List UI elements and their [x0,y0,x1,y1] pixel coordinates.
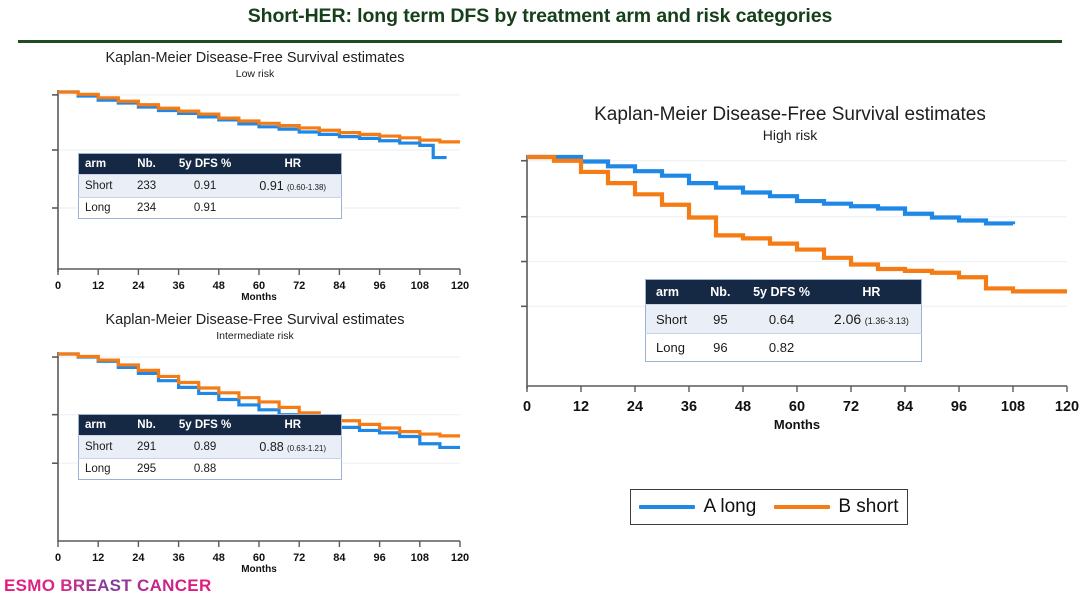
cell-dfs: 0.91 [166,175,245,198]
cell-dfs: 0.88 [166,459,245,480]
x-tick-label: 72 [843,399,859,415]
legend-label: A long [703,496,756,518]
cell-nb: 95 [699,305,741,334]
col-nb: Nb. [127,154,165,175]
x-tick-label: 0 [523,399,531,415]
x-tick-label: 96 [951,399,967,415]
table-row: Long 96 0.82 [646,334,922,362]
col-nb: Nb. [699,280,741,305]
x-tick-label: 72 [293,552,305,564]
x-tick-label: 36 [172,552,184,564]
chart-high-risk-xaxis: 01224364860728496108120Months [505,393,1075,425]
table-row: Long 234 0.91 [79,198,342,219]
col-arm: arm [646,280,700,305]
cell-hr: 0.88 (0.63-1.21) [245,436,342,459]
x-tick-label: 96 [373,552,385,564]
chart-intermediate-risk-xaxis: 01224364860728496108120Months [40,548,470,570]
x-tick-label: 108 [411,552,429,564]
table-row: Short 291 0.89 0.88 (0.63-1.21) [79,436,342,459]
cell-hr [822,334,922,362]
table-header-row: arm Nb. 5y DFS % HR [79,415,342,436]
chart-intermediate-risk-title: Kaplan-Meier Disease-Free Survival estim… [40,312,470,329]
cell-nb: 233 [127,175,165,198]
table-header-row: arm Nb. 5y DFS % HR [79,154,342,175]
hr-ci: (1.36-3.13) [865,316,909,326]
x-axis-title: Months [774,417,820,432]
table-intermediate-risk: arm Nb. 5y DFS % HR Short 291 0.89 0.88 … [78,414,342,480]
col-arm: arm [79,415,128,436]
x-tick-label: 120 [451,280,469,292]
legend-label: B short [838,496,898,518]
hr-ci: (0.63-1.21) [287,444,326,453]
col-nb: Nb. [127,415,165,436]
cell-hr [245,198,342,219]
cell-hr: 2.06 (1.36-3.13) [822,305,922,334]
table-row: Long 295 0.88 [79,459,342,480]
x-tick-label: 96 [373,280,385,292]
chart-legend: A long B short [630,489,908,525]
table-high-risk: arm Nb. 5y DFS % HR Short 95 0.64 2.06 (… [645,279,922,362]
x-tick-label: 0 [55,280,61,292]
hr-ci: (0.60-1.38) [287,183,326,192]
col-dfs: 5y DFS % [166,415,245,436]
x-tick-label: 0 [55,552,61,564]
hr-value: 0.88 [259,440,283,454]
col-arm: arm [79,154,128,175]
x-tick-label: 24 [627,399,643,415]
cell-dfs: 0.91 [166,198,245,219]
cell-arm: Short [79,175,128,198]
legend-item-b-short: B short [774,496,898,518]
cell-dfs: 0.64 [741,305,821,334]
chart-intermediate-risk-subtitle: Intermediate risk [40,330,470,342]
chart-high-risk-title: Kaplan-Meier Disease-Free Survival estim… [505,104,1075,126]
x-tick-label: 60 [789,399,805,415]
x-axis-title: Months [241,564,277,575]
col-hr: HR [822,280,922,305]
x-tick-label: 48 [213,552,225,564]
x-tick-label: 48 [213,280,225,292]
hr-value: 2.06 [834,311,861,327]
chart-high-risk: Kaplan-Meier Disease-Free Survival estim… [505,104,1075,425]
x-tick-label: 12 [573,399,589,415]
x-tick-label: 108 [1001,399,1025,415]
x-tick-label: 108 [411,280,429,292]
line-swatch-icon [774,505,830,509]
cell-arm: Short [646,305,700,334]
cell-arm: Long [79,198,128,219]
x-tick-label: 84 [897,399,913,415]
page-title: Short-HER: long term DFS by treatment ar… [0,5,1080,28]
line-swatch-icon [639,505,695,509]
table-header-row: arm Nb. 5y DFS % HR [646,280,922,305]
x-tick-label: 12 [92,280,104,292]
table-row: Short 233 0.91 0.91 (0.60-1.38) [79,175,342,198]
cell-hr [245,459,342,480]
col-hr: HR [245,154,342,175]
cell-nb: 291 [127,436,165,459]
x-tick-label: 84 [333,552,345,564]
legend-item-a-long: A long [639,496,756,518]
x-tick-label: 36 [681,399,697,415]
esmo-logo: ESMO BREAST CANCER [4,576,212,596]
x-tick-label: 120 [451,552,469,564]
x-tick-label: 72 [293,280,305,292]
table-row: Short 95 0.64 2.06 (1.36-3.13) [646,305,922,334]
chart-high-risk-subtitle: High risk [505,127,1075,143]
table-low-risk: arm Nb. 5y DFS % HR Short 233 0.91 0.91 … [78,153,342,219]
cell-dfs: 0.89 [166,436,245,459]
x-tick-label: 120 [1055,399,1079,415]
col-hr: HR [245,415,342,436]
x-tick-label: 24 [132,552,144,564]
cell-arm: Long [646,334,700,362]
cell-arm: Long [79,459,128,480]
x-tick-label: 60 [253,552,265,564]
chart-low-risk-xaxis: 01224364860728496108120Months [40,276,470,298]
x-axis-title: Months [241,292,277,303]
x-tick-label: 84 [333,280,345,292]
slide: Short-HER: long term DFS by treatment ar… [0,0,1080,604]
cell-nb: 96 [699,334,741,362]
cell-dfs: 0.82 [741,334,821,362]
x-tick-label: 48 [735,399,751,415]
cell-hr: 0.91 (0.60-1.38) [245,175,342,198]
title-divider [18,40,1062,43]
x-tick-label: 12 [92,552,104,564]
col-dfs: 5y DFS % [166,154,245,175]
hr-value: 0.91 [259,179,283,193]
x-tick-label: 36 [172,280,184,292]
x-tick-label: 24 [132,280,144,292]
chart-low-risk-subtitle: Low risk [40,68,470,80]
chart-low-risk-title: Kaplan-Meier Disease-Free Survival estim… [40,50,470,67]
cell-nb: 234 [127,198,165,219]
cell-nb: 295 [127,459,165,480]
col-dfs: 5y DFS % [741,280,821,305]
x-tick-label: 60 [253,280,265,292]
cell-arm: Short [79,436,128,459]
